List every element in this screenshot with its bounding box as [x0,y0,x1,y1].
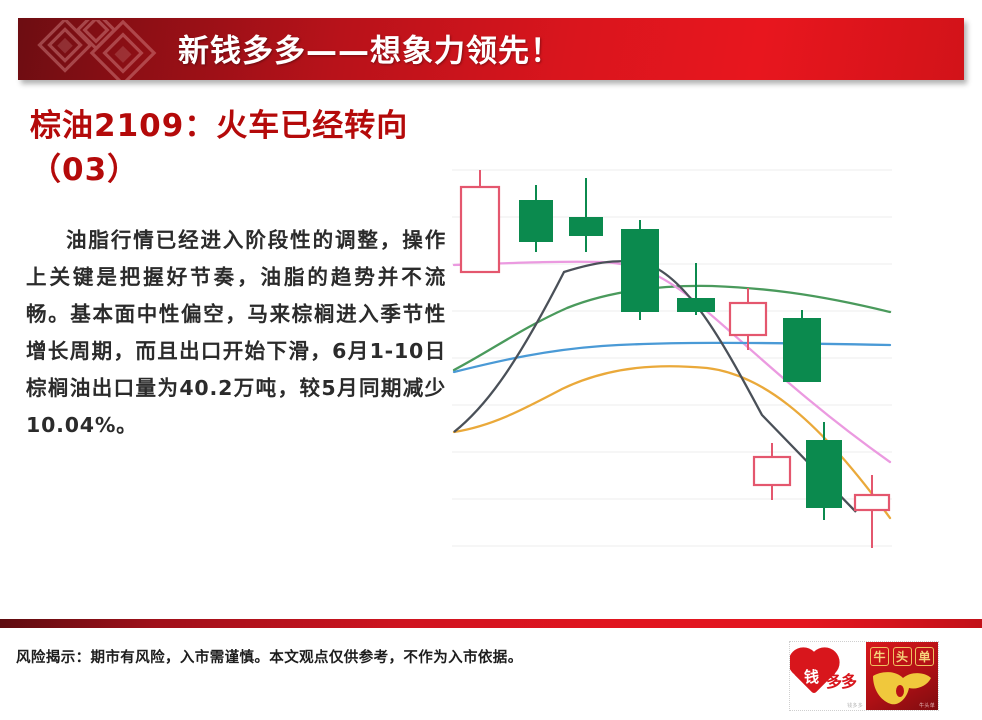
logo-qian-char: 钱 [804,666,819,687]
brand-logo: 钱 多多 钱多多 牛 头 单 牛头单 [789,641,939,711]
candlestick-series [461,170,889,548]
ma-line-blue [454,343,890,372]
footer-disclaimer-text: 风险揭示：期市有风险，入市需谨慎。本文观点仅供参考，不作为入市依据。 [16,646,523,667]
logo-left-tag: 钱多多 [847,702,863,709]
banner-title: 新钱多多——想象力领先！ [178,26,562,71]
logo-niutoudan-panel: 牛 头 单 牛头单 [866,642,938,710]
candle-6 [730,288,766,350]
candle-9 [806,422,842,520]
candle-3 [569,178,603,252]
logo-char-dan: 单 [915,647,934,666]
header-banner: 新钱多多——想象力领先！ [18,18,964,80]
candle-2 [519,185,553,252]
candle-7 [783,310,821,382]
logo-duoduo-chars: 多多 [826,668,856,692]
bull-horn-icon [869,668,935,708]
logo-qianduoduo-panel: 钱 多多 钱多多 [790,642,866,710]
chart-canvas [452,160,892,570]
logo-char-tou: 头 [893,647,912,666]
article-title: 棕油2109：火车已经转向（03） [30,104,450,192]
candle-4 [621,220,659,320]
diamond-knot-pattern-icon [32,20,182,80]
candle-1 [461,170,499,272]
logo-char-niu: 牛 [870,647,889,666]
article-body-text: 油脂行情已经进入阶段性的调整，操作上关键是把握好节奏，油脂的趋势并不流畅。基本面… [26,222,446,444]
logo-niutoudan-chars: 牛 头 单 [870,647,934,666]
candlestick-chart: 6728→ [452,160,892,570]
footer-divider-rule [0,619,982,628]
